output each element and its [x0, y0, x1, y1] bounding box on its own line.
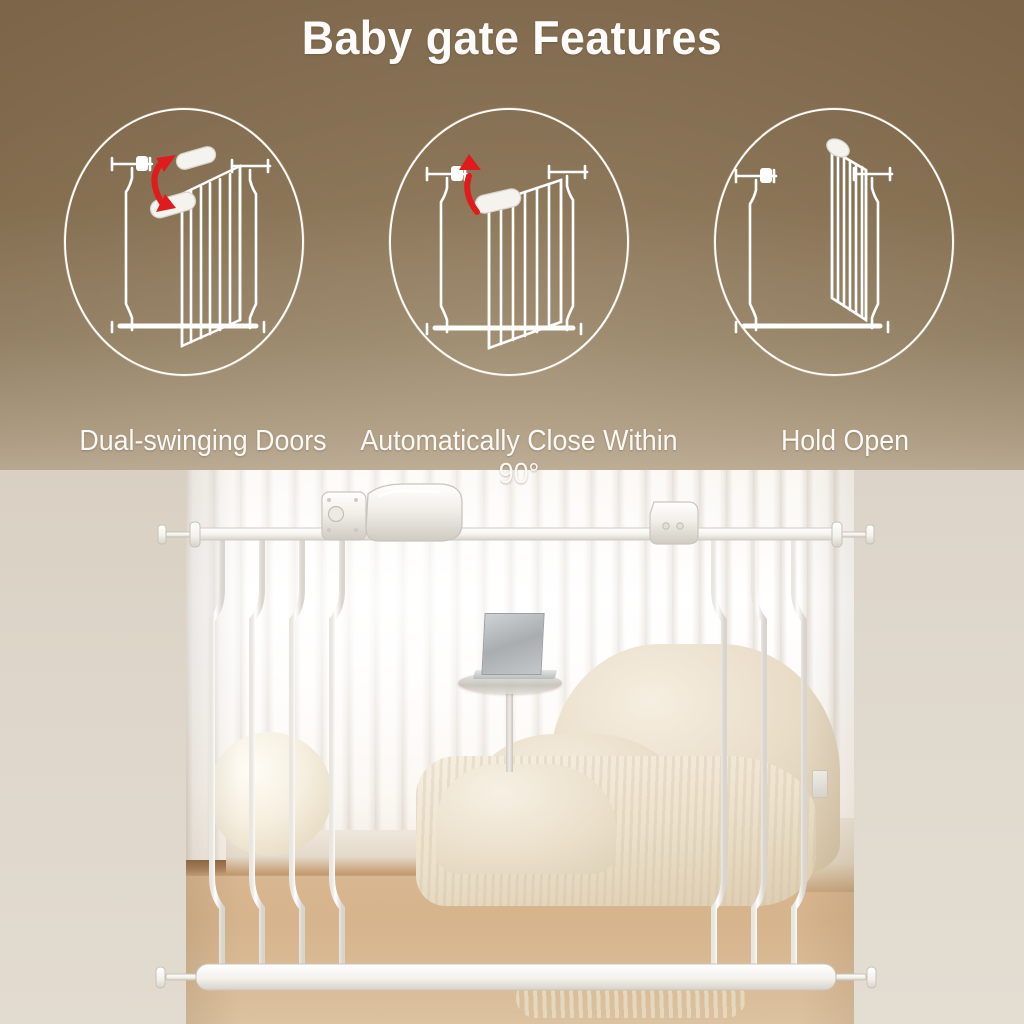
caption-automatically-close: Automatically Close Within 90° — [355, 425, 684, 491]
gate-dual-swing-icon — [64, 108, 304, 376]
infographic-canvas: Baby gate Features — [0, 0, 1024, 1024]
feature-dual-swinging-doors[interactable] — [64, 108, 304, 376]
baby-gate-product — [0, 470, 1024, 1024]
caption-hold-open: Hold Open — [709, 425, 982, 458]
feature-circles — [0, 0, 1024, 420]
gate-auto-close-icon — [389, 108, 629, 376]
gate-hold-open-icon — [714, 108, 954, 376]
top-rail — [196, 528, 836, 540]
feature-hold-open[interactable] — [714, 108, 954, 376]
bottom-rail — [196, 964, 836, 990]
gate-door-bars — [392, 538, 658, 968]
feature-captions: Dual-swinging Doors Automatically Close … — [0, 425, 1024, 515]
left-extension-panel — [212, 540, 342, 964]
caption-dual-swinging-doors: Dual-swinging Doors — [67, 425, 340, 458]
feature-automatically-close[interactable] — [389, 108, 629, 376]
gate-illustration — [0, 470, 1024, 1024]
right-extension-panel — [714, 540, 804, 964]
